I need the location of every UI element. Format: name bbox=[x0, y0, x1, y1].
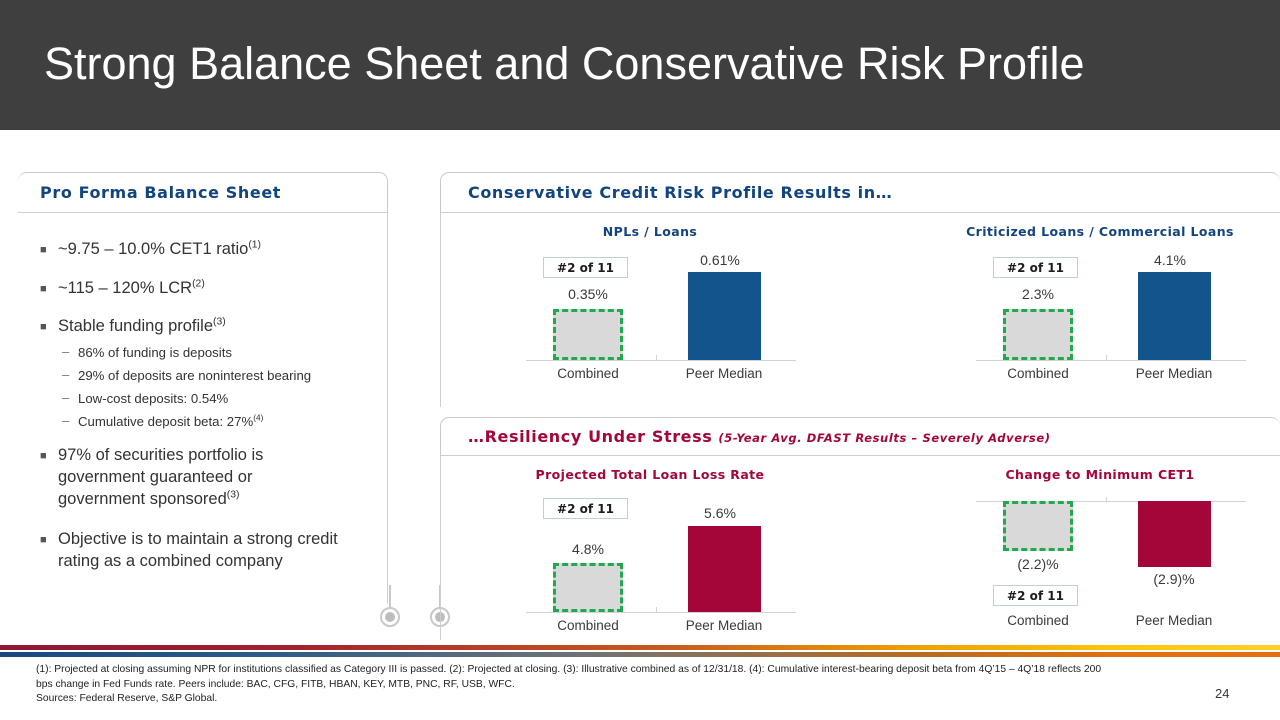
value-label-peer: (2.9)% bbox=[1114, 571, 1234, 587]
axis-divider bbox=[1106, 355, 1107, 361]
x-axis bbox=[976, 360, 1246, 361]
stress-title-main: …Resiliency Under Stress bbox=[468, 427, 712, 446]
category-label-peer: Peer Median bbox=[664, 618, 784, 633]
chart-change-min-cet1: Change to Minimum CET1 (2.2)% #2 of 11 (… bbox=[910, 467, 1280, 637]
bullet-marker: ■ bbox=[40, 278, 47, 300]
bullet-marker: ■ bbox=[40, 529, 47, 551]
category-label-peer: Peer Median bbox=[1114, 613, 1234, 628]
footnote-ref: (4) bbox=[253, 413, 263, 423]
sub-bullet-noninterest: – 29% of deposits are noninterest bearin… bbox=[62, 367, 382, 385]
value-label-combined: 4.8% bbox=[528, 541, 648, 557]
footnote-line-3: Sources: Federal Reserve, S&P Global. bbox=[36, 692, 1166, 707]
bullet-credit-rating: ■ Objective is to maintain a strong cred… bbox=[40, 528, 340, 572]
sub-bullet-text: Low-cost deposits: 0.54% bbox=[78, 390, 382, 408]
footnote-ref: (3) bbox=[213, 317, 226, 328]
right-top-panel-rule bbox=[440, 212, 1280, 213]
category-label-peer: Peer Median bbox=[1114, 366, 1234, 381]
left-panel-title: Pro Forma Balance Sheet bbox=[40, 183, 281, 202]
axis-divider bbox=[1106, 497, 1107, 503]
bar-combined bbox=[553, 309, 623, 360]
bullet-marker: ■ bbox=[40, 316, 47, 338]
value-label-peer: 4.1% bbox=[1110, 252, 1230, 268]
x-axis bbox=[526, 360, 796, 361]
category-label-combined: Combined bbox=[528, 618, 648, 633]
dash-marker: – bbox=[62, 366, 69, 384]
chart-npls-loans: NPLs / Loans 0.61% #2 of 11 0.35% Combin… bbox=[460, 224, 840, 394]
sub-bullet-text: 86% of funding is deposits bbox=[78, 344, 382, 362]
rank-badge: #2 of 11 bbox=[993, 257, 1078, 278]
footnote-ref: (1) bbox=[248, 240, 261, 251]
right-bottom-panel-rule bbox=[440, 455, 1280, 456]
bar-combined bbox=[1003, 309, 1073, 360]
footnote-ref: (3) bbox=[227, 490, 240, 501]
right-bottom-panel-title: …Resiliency Under Stress(5-Year Avg. DFA… bbox=[468, 427, 1051, 446]
bullet-text: ~9.75 – 10.0% CET1 ratio(1) bbox=[58, 238, 370, 260]
bullet-text: Stable funding profile(3) bbox=[58, 315, 370, 337]
rank-badge: #2 of 11 bbox=[543, 498, 628, 519]
sub-bullet-text: Cumulative deposit beta: 27%(4) bbox=[78, 413, 382, 431]
value-label-peer: 0.61% bbox=[660, 252, 780, 268]
bullet-text: Objective is to maintain a strong credit… bbox=[58, 528, 340, 572]
chart-criticized-loans: Criticized Loans / Commercial Loans 4.1%… bbox=[910, 224, 1280, 394]
footnote-ref: (2) bbox=[192, 279, 205, 290]
bar-combined bbox=[553, 563, 623, 612]
value-label-peer: 5.6% bbox=[660, 505, 780, 521]
category-label-combined: Combined bbox=[528, 366, 648, 381]
bullet-text: ~115 – 120% LCR(2) bbox=[58, 277, 370, 299]
slide-root: Strong Balance Sheet and Conservative Ri… bbox=[0, 0, 1280, 720]
sub-bullet-deposit-beta: – Cumulative deposit beta: 27%(4) bbox=[62, 413, 382, 431]
category-label-combined: Combined bbox=[978, 613, 1098, 628]
dash-marker: – bbox=[62, 389, 69, 407]
chart-title: Projected Total Loan Loss Rate bbox=[460, 467, 840, 482]
axis-divider bbox=[656, 607, 657, 613]
value-label-combined: 0.35% bbox=[528, 286, 648, 302]
bullet-funding: ■ Stable funding profile(3) bbox=[40, 315, 370, 337]
bullet-securities: ■ 97% of securities portfolio is governm… bbox=[40, 444, 340, 510]
category-label-combined: Combined bbox=[978, 366, 1098, 381]
left-panel-right-edge bbox=[387, 212, 388, 604]
bar-peer-median bbox=[688, 272, 761, 360]
rank-badge: #2 of 11 bbox=[993, 585, 1078, 606]
right-top-panel-left-edge bbox=[440, 212, 441, 407]
stress-title-sub: (5-Year Avg. DFAST Results – Severely Ad… bbox=[718, 431, 1050, 445]
sub-bullet-deposits-share: – 86% of funding is deposits bbox=[62, 344, 382, 362]
dash-marker: – bbox=[62, 412, 69, 430]
rank-badge: #2 of 11 bbox=[543, 257, 628, 278]
bullet-text: 97% of securities portfolio is governmen… bbox=[58, 444, 340, 510]
x-axis bbox=[526, 612, 796, 613]
chart-loan-loss-rate: Projected Total Loan Loss Rate 5.6% #2 o… bbox=[460, 467, 840, 637]
category-label-peer: Peer Median bbox=[664, 366, 784, 381]
right-bottom-panel-left-edge bbox=[440, 455, 441, 640]
chart-title: Change to Minimum CET1 bbox=[910, 467, 1280, 482]
chart-title: NPLs / Loans bbox=[460, 224, 840, 239]
footnote-line-1: (1): Projected at closing assuming NPR f… bbox=[36, 663, 1166, 678]
page-number: 24 bbox=[1215, 686, 1229, 701]
footnotes: (1): Projected at closing assuming NPR f… bbox=[36, 663, 1166, 707]
bullet-lcr: ■ ~115 – 120% LCR(2) bbox=[40, 277, 370, 299]
chart-title: Criticized Loans / Commercial Loans bbox=[910, 224, 1280, 239]
bar-peer-median bbox=[1138, 272, 1211, 360]
value-label-combined: 2.3% bbox=[978, 286, 1098, 302]
bullet-marker: ■ bbox=[40, 445, 47, 467]
pin-dot-left bbox=[385, 612, 395, 622]
page-title: Strong Balance Sheet and Conservative Ri… bbox=[44, 38, 1085, 90]
footnote-line-2: bps change in Fed Funds rate. Peers incl… bbox=[36, 678, 1166, 693]
axis-divider bbox=[656, 355, 657, 361]
bar-peer-median bbox=[1138, 501, 1211, 567]
bar-peer-median bbox=[688, 526, 761, 612]
bullet-marker: ■ bbox=[40, 239, 47, 261]
pin-stem-left bbox=[389, 585, 391, 607]
bar-combined bbox=[1003, 501, 1073, 551]
value-label-combined: (2.2)% bbox=[978, 556, 1098, 572]
left-panel-rule bbox=[18, 212, 388, 213]
sub-bullet-low-cost: – Low-cost deposits: 0.54% bbox=[62, 390, 382, 408]
sub-bullet-text: 29% of deposits are noninterest bearing bbox=[78, 367, 382, 385]
dash-marker: – bbox=[62, 343, 69, 361]
footer-accent-bar-top bbox=[0, 645, 1280, 650]
bullet-cet1: ■ ~9.75 – 10.0% CET1 ratio(1) bbox=[40, 238, 370, 260]
footer-accent-bar-bottom bbox=[0, 652, 1280, 657]
right-top-panel-title: Conservative Credit Risk Profile Results… bbox=[468, 183, 892, 202]
